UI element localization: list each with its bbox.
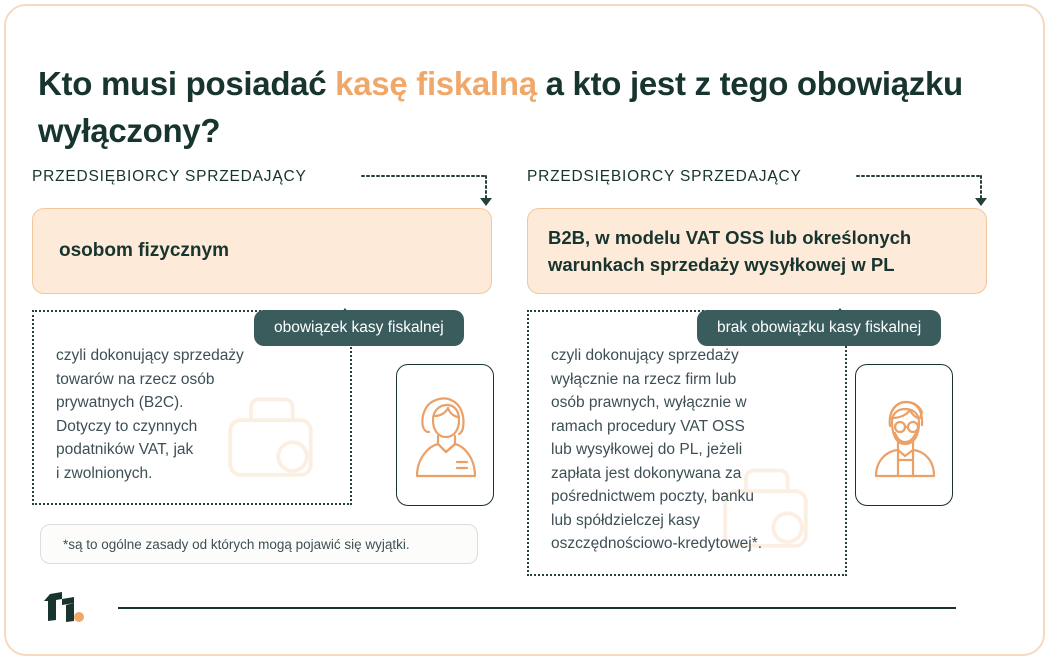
column-left: PRZEDSIĘBIORCY SPRZEDAJĄCY osobom fizycz… bbox=[32, 168, 492, 505]
statement-box-left: osobom fizycznym bbox=[32, 208, 492, 294]
male-avatar-icon bbox=[868, 392, 940, 478]
footnote-text: *są to ogólne zasady od których mogą poj… bbox=[63, 537, 410, 552]
avatar-card-right bbox=[855, 364, 953, 506]
taxology-logo-icon bbox=[44, 590, 102, 628]
badge-right-label: brak obowiązku kasy fiskalnej bbox=[717, 319, 921, 336]
statement-right-text: B2B, w modelu VAT OSS lub określonych wa… bbox=[548, 224, 966, 278]
section-header-left: PRZEDSIĘBIORCY SPRZEDAJĄCY bbox=[32, 168, 492, 192]
page-title: Kto musi posiadać kasę fiskalną a kto je… bbox=[38, 60, 988, 154]
section-header-right: PRZEDSIĘBIORCY SPRZEDAJĄCY bbox=[527, 168, 987, 192]
female-avatar-icon bbox=[409, 392, 481, 478]
section-header-left-label: PRZEDSIĘBIORCY SPRZEDAJĄCY bbox=[32, 168, 307, 185]
detail-text-right: czyli dokonujący sprzedaży wyłącznie na … bbox=[551, 344, 825, 556]
title-part-before: Kto musi posiadać bbox=[38, 65, 335, 102]
detail-text-left: czyli dokonujący sprzedaży towarów na rz… bbox=[56, 344, 330, 485]
statement-box-right: B2B, w modelu VAT OSS lub określonych wa… bbox=[527, 208, 987, 294]
dotted-connector-arrow-left bbox=[360, 172, 492, 210]
badge-right: brak obowiązku kasy fiskalnej bbox=[697, 310, 941, 346]
section-header-right-label: PRZEDSIĘBIORCY SPRZEDAJĄCY bbox=[527, 168, 802, 185]
title-highlight: kasę fiskalną bbox=[335, 65, 537, 102]
infographic-page: Kto musi posiadać kasę fiskalną a kto je… bbox=[0, 0, 1049, 660]
statement-left-text: osobom fizycznym bbox=[59, 240, 229, 262]
dotted-connector-arrow-right bbox=[855, 172, 987, 210]
footer-divider bbox=[118, 607, 956, 609]
badge-left-label: obowiązek kasy fiskalnej bbox=[274, 319, 444, 336]
footnote-box: *są to ogólne zasady od których mogą poj… bbox=[40, 524, 478, 564]
badge-left: obowiązek kasy fiskalnej bbox=[254, 310, 464, 346]
detail-panel-right: czyli dokonujący sprzedaży wyłącznie na … bbox=[527, 310, 847, 576]
column-right: PRZEDSIĘBIORCY SPRZEDAJĄCY B2B, w modelu… bbox=[527, 168, 987, 576]
avatar-card-left bbox=[396, 364, 494, 506]
